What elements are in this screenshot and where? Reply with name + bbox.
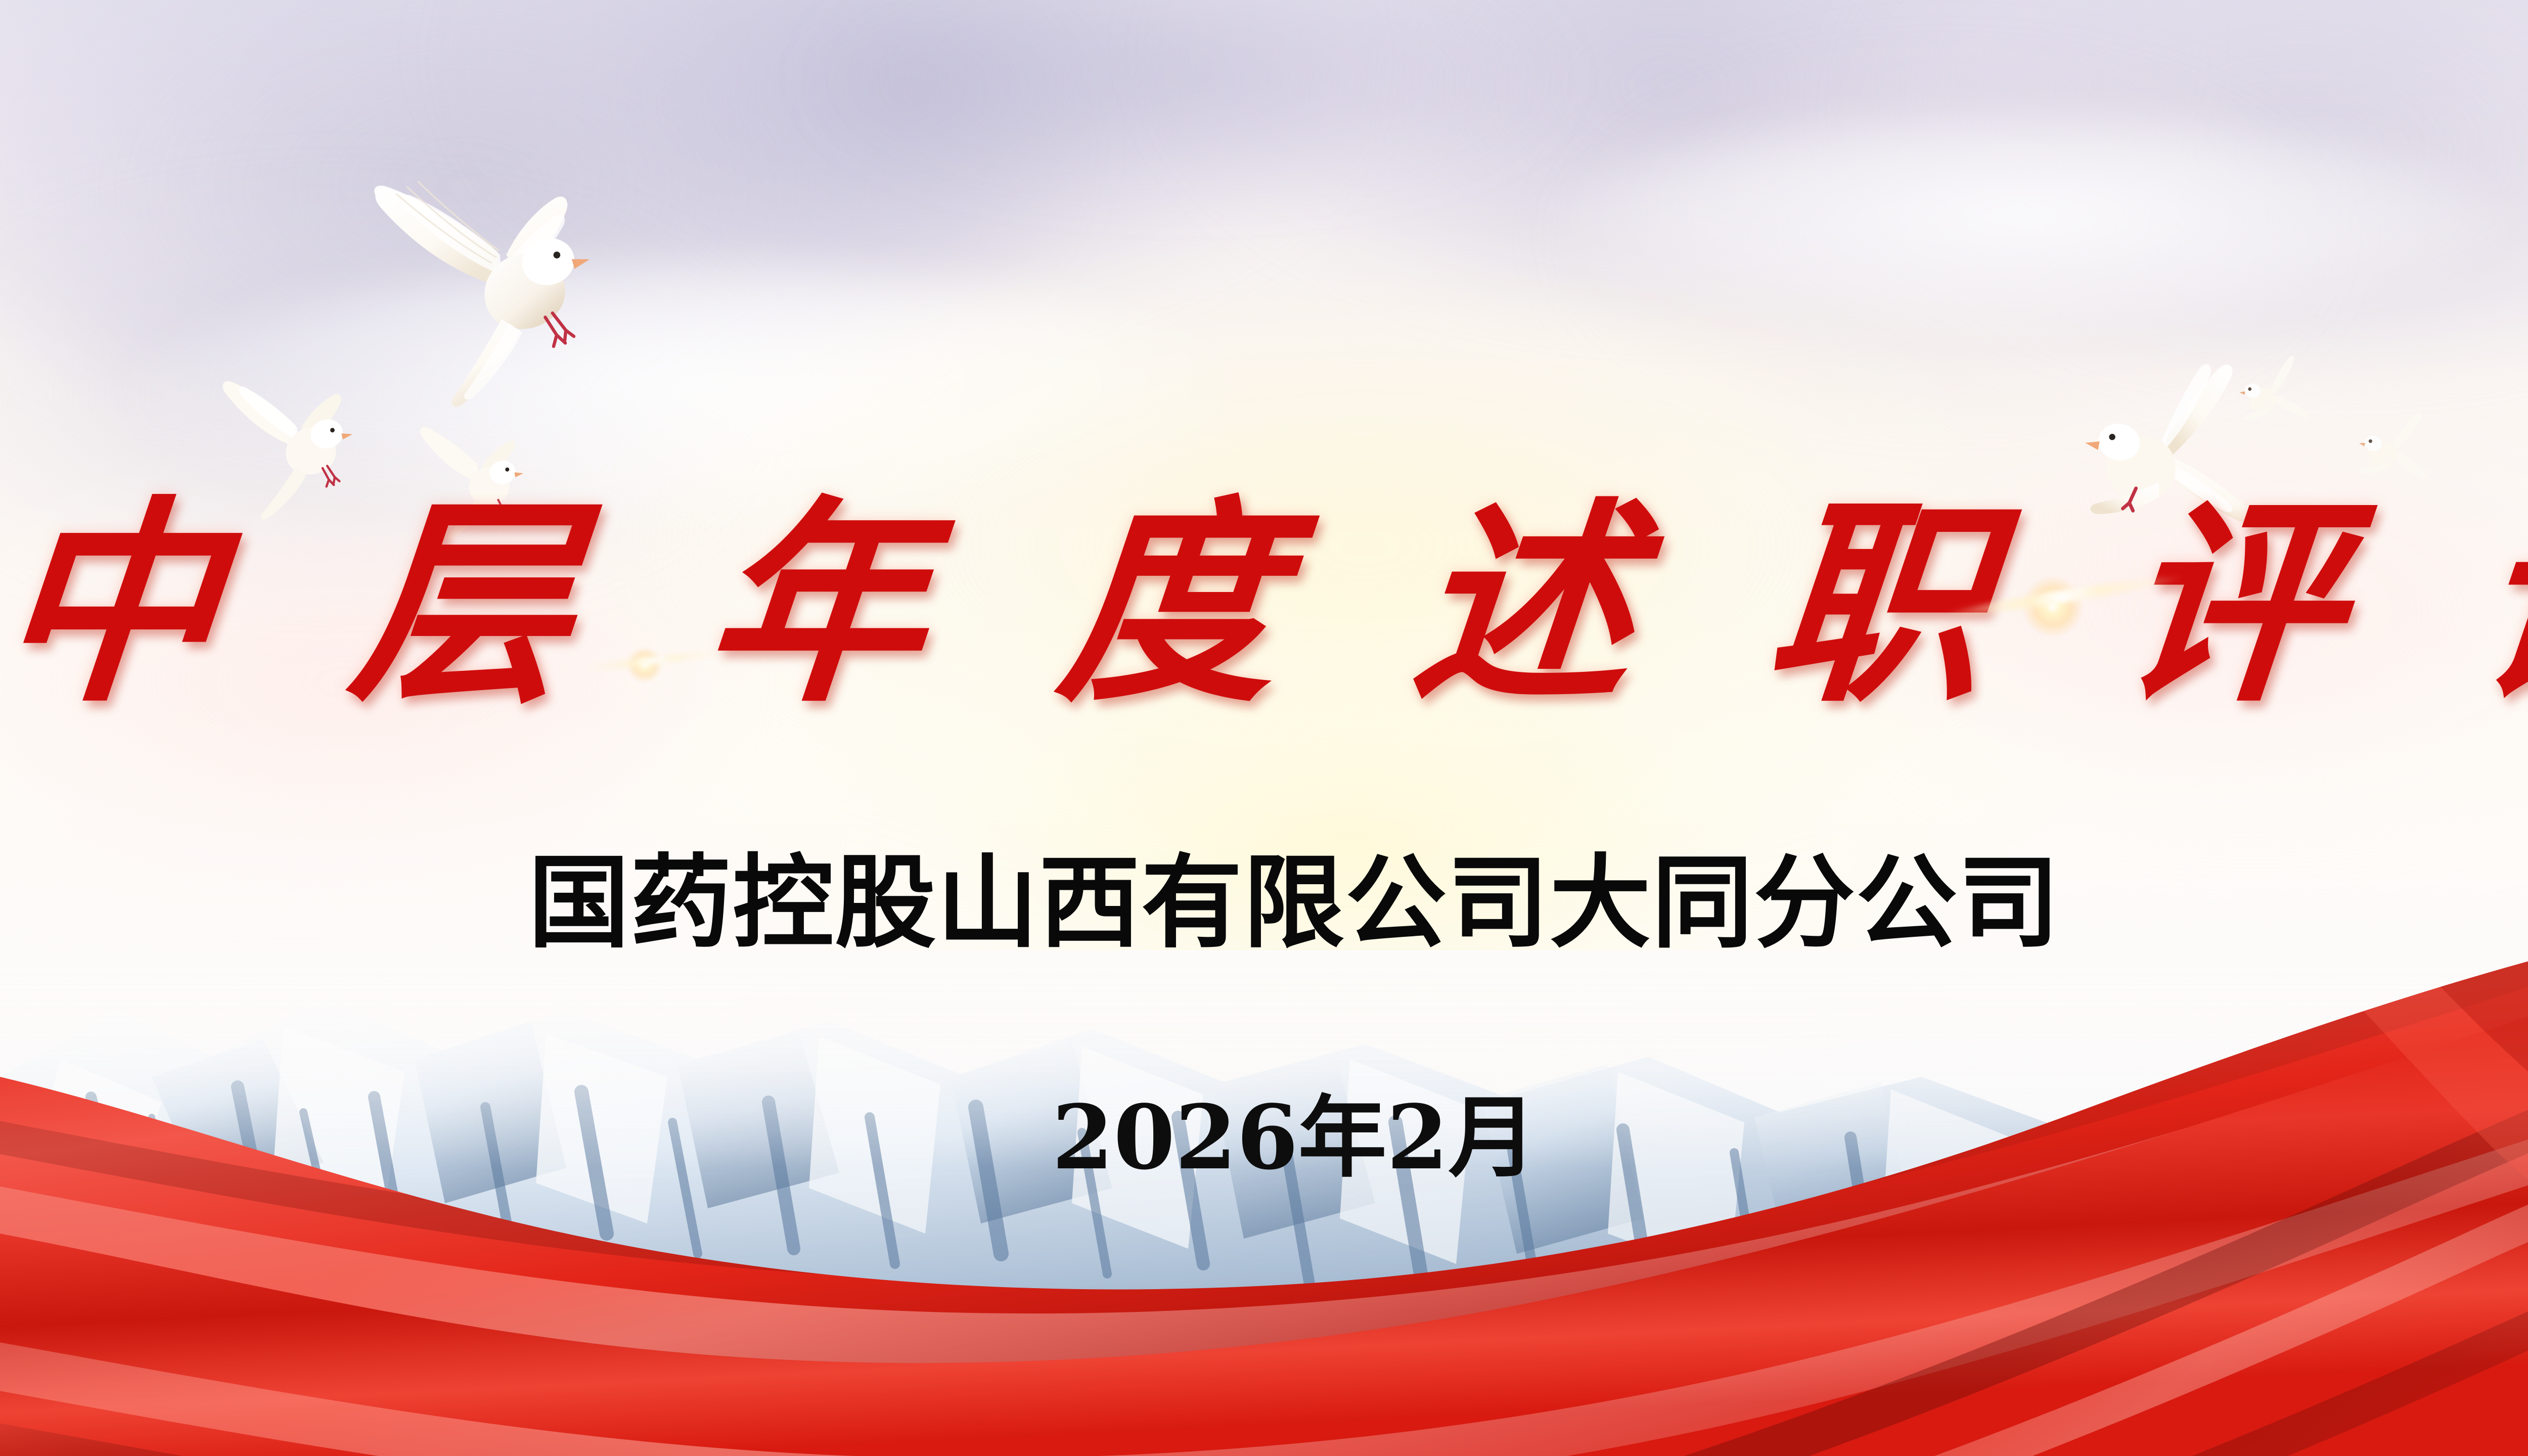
poster-content: 中 层 年 度 述 职 评 议 国药控股山西有限公司大同分公司 2026年2月 [0, 0, 2528, 1456]
page-title: 中 层 年 度 述 职 评 议 [0, 495, 2528, 713]
event-date: 2026年2月 [0, 1087, 2528, 1189]
organization-name: 国药控股山西有限公司大同分公司 [0, 845, 2528, 962]
poster-canvas: 中 层 年 度 述 职 评 议 国药控股山西有限公司大同分公司 2026年2月 [0, 0, 2528, 1456]
